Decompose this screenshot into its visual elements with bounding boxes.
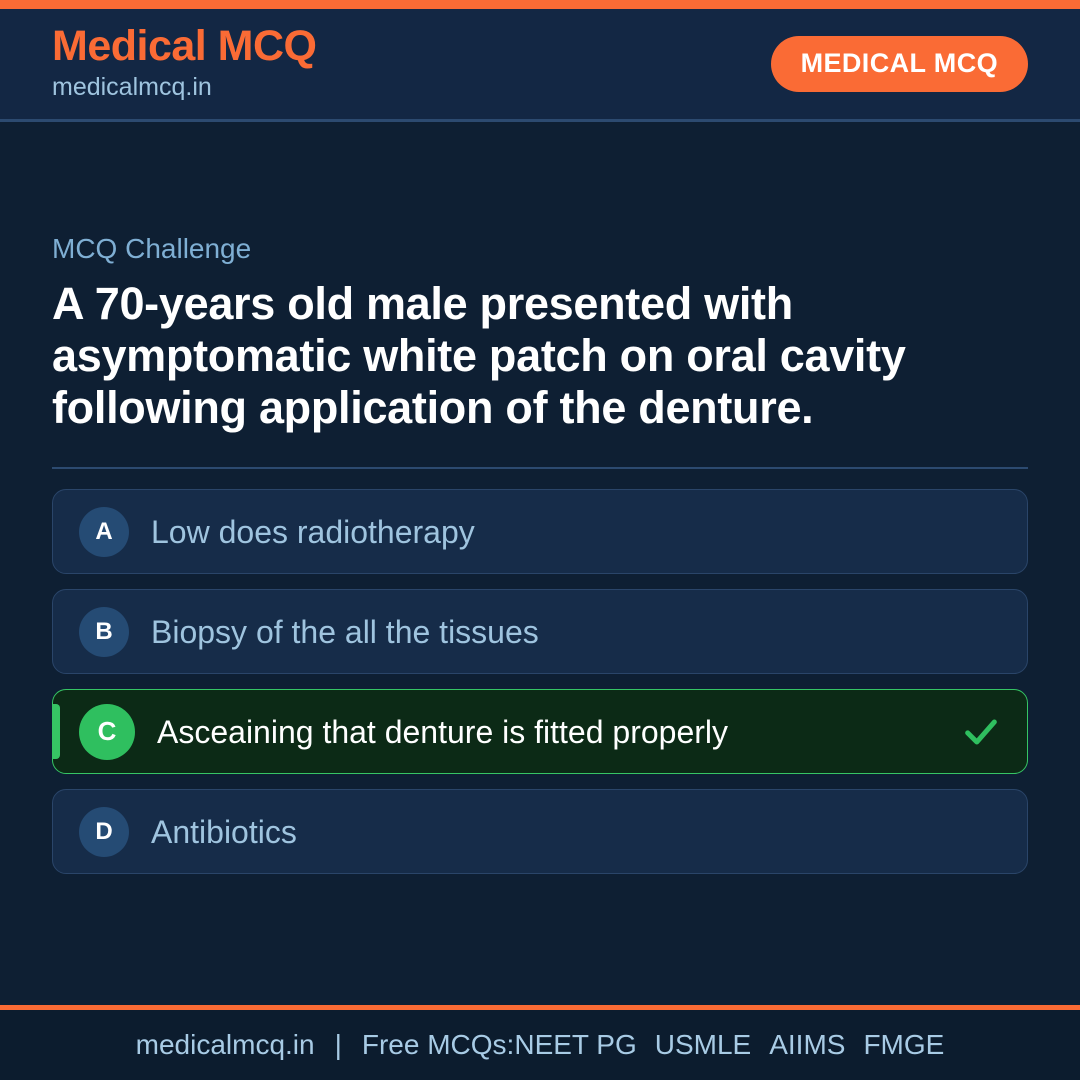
footer-exams-label: Free MCQs: xyxy=(362,1029,514,1061)
footer-exam-aiims[interactable]: AIIMS xyxy=(769,1029,845,1061)
footer-separator: | xyxy=(315,1029,362,1061)
option-letter-badge: D xyxy=(79,807,129,857)
footer-bar: medicalmcq.in | Free MCQs: NEET PG USMLE… xyxy=(0,1010,1080,1080)
footer-exam-usmle[interactable]: USMLE xyxy=(655,1029,751,1061)
question-text: A 70-years old male presented with asymp… xyxy=(52,278,987,435)
eyebrow-label: MCQ Challenge xyxy=(52,232,1028,266)
brand: Medical MCQ medicalmcq.in xyxy=(52,24,317,104)
option-d[interactable]: D Antibiotics xyxy=(52,789,1028,874)
check-icon xyxy=(961,712,1001,752)
header-bar: Medical MCQ medicalmcq.in MEDICAL MCQ xyxy=(0,9,1080,122)
option-label: Antibiotics xyxy=(151,812,1001,852)
footer-exam-neetpg[interactable]: NEET PG xyxy=(514,1029,636,1061)
option-label: Biopsy of the all the tissues xyxy=(151,612,1001,652)
option-b[interactable]: B Biopsy of the all the tissues xyxy=(52,589,1028,674)
option-letter-badge: C xyxy=(79,704,135,760)
option-c[interactable]: C Asceaining that denture is fitted prop… xyxy=(52,689,1028,774)
option-letter-badge: B xyxy=(79,607,129,657)
section-divider xyxy=(52,467,1028,469)
mcq-card: Medical MCQ medicalmcq.in MEDICAL MCQ MC… xyxy=(0,0,1080,1080)
correct-accent-bar xyxy=(53,704,60,759)
option-label: Asceaining that denture is fitted proper… xyxy=(157,712,945,752)
footer-site[interactable]: medicalmcq.in xyxy=(136,1029,315,1061)
brand-title: Medical MCQ xyxy=(52,24,317,69)
top-accent-strip xyxy=(0,0,1080,9)
option-label: Low does radiotherapy xyxy=(151,512,1001,552)
brand-subtitle: medicalmcq.in xyxy=(52,71,317,104)
header-badge: MEDICAL MCQ xyxy=(771,36,1028,92)
option-a[interactable]: A Low does radiotherapy xyxy=(52,489,1028,574)
main-content: MCQ Challenge A 70-years old male presen… xyxy=(0,122,1080,1005)
footer-exams: NEET PG USMLE AIIMS FMGE xyxy=(514,1029,944,1061)
option-letter-badge: A xyxy=(79,507,129,557)
footer-exam-fmge[interactable]: FMGE xyxy=(863,1029,944,1061)
options-list: A Low does radiotherapy B Biopsy of the … xyxy=(52,489,1028,874)
